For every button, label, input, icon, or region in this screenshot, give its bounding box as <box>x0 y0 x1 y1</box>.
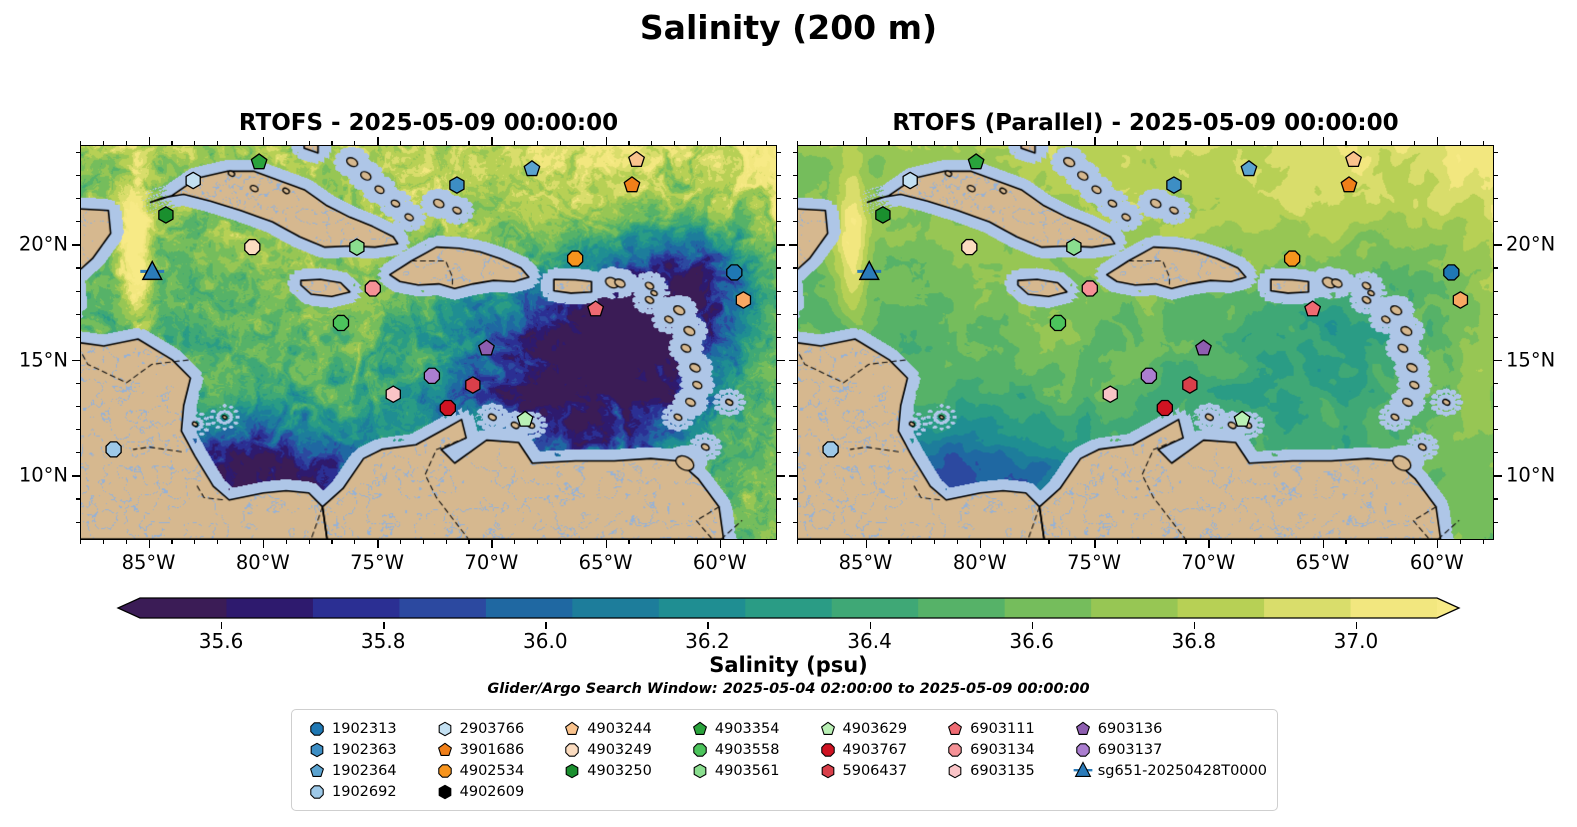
xtick-minor-top-left <box>743 141 744 145</box>
xtick-major-left <box>263 540 265 548</box>
legend-label: 5906437 <box>841 763 908 779</box>
xtick-minor-right <box>1003 540 1004 544</box>
ytick-minor-left-right <box>793 429 797 430</box>
map-marker-5906437[interactable] <box>466 377 480 393</box>
map-marker-4903250[interactable] <box>159 207 173 223</box>
legend-label: 4902609 <box>458 784 525 800</box>
map-marker-4903558[interactable] <box>1050 315 1065 330</box>
map-marker-4902609[interactable] <box>1453 292 1467 308</box>
xtick-label: 65°W <box>579 551 633 574</box>
legend-label: 4903767 <box>841 742 908 758</box>
legend-marker-octagon-icon <box>942 739 968 760</box>
map-marker-6903137[interactable] <box>1141 368 1156 383</box>
xtick-minor-top-left <box>217 141 218 145</box>
ytick-minor-right-left <box>777 383 781 384</box>
legend-label: 4903249 <box>585 742 652 758</box>
xtick-minor-top-left <box>400 141 401 145</box>
legend-marker-hexagon-icon <box>432 781 458 802</box>
xtick-minor-top-right <box>1414 141 1415 145</box>
ytick-major-left-left <box>72 244 80 246</box>
map-marker-4902609[interactable] <box>736 292 750 308</box>
xtick-minor-right <box>1391 540 1392 544</box>
legend-item-2903766[interactable]: 2903766 <box>432 718 560 739</box>
xtick-minor-right <box>1117 540 1118 544</box>
xtick-minor-top-right <box>911 141 912 145</box>
marker-overlay-rtofs <box>81 146 776 539</box>
legend-spacer <box>815 781 943 802</box>
legend-marker-pentagon-icon <box>304 760 330 781</box>
legend-marker-hexagon-icon <box>432 718 458 739</box>
legend-label: 6903111 <box>968 721 1035 737</box>
map-marker-4903561[interactable] <box>1067 239 1081 255</box>
map-marker-1902692[interactable] <box>106 442 121 457</box>
legend-label: sg651-20250428T0000 <box>1096 763 1267 779</box>
colorbar-tick <box>1356 622 1357 629</box>
ytick-minor-left-right <box>793 152 797 153</box>
xtick-minor-right <box>888 540 889 544</box>
legend-label: 4903354 <box>713 721 780 737</box>
legend-item-sg651[interactable]: sg651-20250428T0000 <box>1070 760 1267 781</box>
ytick-label-left: 15°N <box>0 348 68 371</box>
legend-item-1902313[interactable]: 1902313 <box>304 718 432 739</box>
map-marker-4903767[interactable] <box>1157 400 1172 415</box>
xtick-minor-top-left <box>651 141 652 145</box>
map-panel-rtofs-parallel[interactable] <box>797 145 1494 540</box>
xtick-major-top-left <box>377 137 379 145</box>
xtick-minor-top-left <box>537 141 538 145</box>
xtick-label: 60°W <box>693 551 747 574</box>
legend-spacer <box>942 781 1070 802</box>
ytick-minor-left-left <box>76 452 80 453</box>
ytick-minor-left-left <box>76 198 80 199</box>
legend-marker-pentagon-icon <box>559 718 585 739</box>
ytick-minor-left-left <box>76 267 80 268</box>
xtick-minor-top-right <box>1391 141 1392 145</box>
xtick-minor-left <box>103 540 104 544</box>
xtick-minor-left <box>743 540 744 544</box>
xtick-major-top-right <box>1323 137 1325 145</box>
xtick-label: 80°W <box>953 551 1007 574</box>
xtick-minor-right <box>1368 540 1369 544</box>
xtick-major-top-right <box>866 137 868 145</box>
map-marker-4902534[interactable] <box>1285 251 1300 266</box>
map-marker-sg651[interactable] <box>857 261 881 279</box>
search-window-caption: Glider/Argo Search Window: 2025-05-04 02… <box>0 681 1577 697</box>
xtick-minor-left <box>331 540 332 544</box>
legend-item-6903135[interactable]: 6903135 <box>942 760 1070 781</box>
map-marker-4903767[interactable] <box>440 400 455 415</box>
map-marker-6903136[interactable] <box>479 340 495 355</box>
xtick-label: 70°W <box>1181 551 1235 574</box>
legend-label: 4903561 <box>713 763 780 779</box>
map-marker-4903629[interactable] <box>517 411 533 426</box>
xtick-minor-top-left <box>354 141 355 145</box>
colorbar-extend-max <box>1437 598 1459 618</box>
ytick-minor-right-left <box>777 522 781 523</box>
map-marker-3901686[interactable] <box>1341 177 1357 192</box>
xtick-major-top-left <box>149 137 151 145</box>
ytick-minor-right-right <box>1494 429 1498 430</box>
ytick-minor-left-left <box>76 152 80 153</box>
legend-item-4903249[interactable]: 4903249 <box>559 739 687 760</box>
legend-marker-pentagon-icon <box>432 739 458 760</box>
legend-marker-octagon-icon <box>687 739 713 760</box>
colorbar-tick <box>1032 622 1033 629</box>
xtick-label: 65°W <box>1296 551 1350 574</box>
ytick-label-left: 20°N <box>0 233 68 256</box>
xtick-minor-top-right <box>1185 141 1186 145</box>
xtick-minor-right <box>1277 540 1278 544</box>
legend-item-4903561[interactable]: 4903561 <box>687 760 815 781</box>
panel-title-right: RTOFS (Parallel) - 2025-05-09 00:00:00 <box>797 110 1494 140</box>
map-marker-1902692[interactable] <box>823 442 838 457</box>
legend-item-5906437[interactable]: 5906437 <box>815 760 943 781</box>
xtick-minor-left <box>468 540 469 544</box>
map-marker-2903766[interactable] <box>903 172 917 188</box>
colorbar-tick <box>221 622 222 629</box>
ytick-minor-right-left <box>777 314 781 315</box>
map-marker-4903244[interactable] <box>629 152 645 167</box>
ytick-major-right-left <box>777 475 785 477</box>
xtick-minor-left <box>537 540 538 544</box>
ytick-major-right-left <box>777 360 785 362</box>
xtick-minor-right <box>843 540 844 544</box>
legend-item-3901686[interactable]: 3901686 <box>432 739 560 760</box>
ytick-minor-left-right <box>793 522 797 523</box>
ytick-minor-left-left <box>76 337 80 338</box>
legend-marker-hexagon-icon <box>942 760 968 781</box>
colorbar[interactable] <box>0 596 1577 622</box>
xtick-major-top-left <box>263 137 265 145</box>
ytick-minor-right-left <box>777 198 781 199</box>
ytick-minor-right-right <box>1494 337 1498 338</box>
ytick-label-right: 15°N <box>1506 348 1577 371</box>
xtick-minor-top-right <box>1254 141 1255 145</box>
legend-item-1902364[interactable]: 1902364 <box>304 760 432 781</box>
map-marker-5906437[interactable] <box>1183 377 1197 393</box>
xtick-major-right <box>1094 540 1096 548</box>
xtick-minor-top-left <box>80 141 81 145</box>
ytick-minor-right-left <box>777 267 781 268</box>
xtick-minor-top-left <box>628 141 629 145</box>
xtick-minor-top-right <box>1345 141 1346 145</box>
ytick-label-left: 10°N <box>0 464 68 487</box>
legend-item-6903136[interactable]: 6903136 <box>1070 718 1267 739</box>
xtick-minor-left <box>560 540 561 544</box>
xtick-major-left <box>377 540 379 548</box>
map-marker-4903558[interactable] <box>333 315 348 330</box>
legend-marker-octagon-icon <box>1070 739 1096 760</box>
legend-marker-pentagon-icon <box>687 718 713 739</box>
ytick-minor-left-right <box>793 498 797 499</box>
legend-item-4903250[interactable]: 4903250 <box>559 760 687 781</box>
map-marker-6903135[interactable] <box>386 386 400 402</box>
legend-item-6903134[interactable]: 6903134 <box>942 739 1070 760</box>
xtick-minor-left <box>514 540 515 544</box>
colorbar-band-4 <box>486 598 573 618</box>
xtick-label: 80°W <box>236 551 290 574</box>
legend-label: 1902363 <box>330 742 397 758</box>
map-marker-3901686[interactable] <box>624 177 640 192</box>
ytick-minor-left-left <box>76 291 80 292</box>
ytick-minor-right-right <box>1494 498 1498 499</box>
map-panel-rtofs[interactable] <box>80 145 777 540</box>
xtick-minor-right <box>1140 540 1141 544</box>
xtick-minor-left <box>674 540 675 544</box>
ytick-minor-left-right <box>793 452 797 453</box>
ytick-minor-right-right <box>1494 175 1498 176</box>
legend-item-4903629[interactable]: 4903629 <box>815 718 943 739</box>
legend-label: 2903766 <box>458 721 525 737</box>
xtick-minor-top-left <box>126 141 127 145</box>
xtick-minor-top-left <box>103 141 104 145</box>
map-marker-6903135[interactable] <box>1103 386 1117 402</box>
legend-label: 6903135 <box>968 763 1035 779</box>
legend-item-4903244[interactable]: 4903244 <box>559 718 687 739</box>
ytick-minor-left-left <box>76 314 80 315</box>
ytick-minor-left-right <box>793 314 797 315</box>
colorbar-tick <box>707 622 708 629</box>
ytick-minor-right-right <box>1494 267 1498 268</box>
legend-item-1902692[interactable]: 1902692 <box>304 781 432 802</box>
map-marker-4903629[interactable] <box>1234 411 1250 426</box>
xtick-minor-top-right <box>1460 141 1461 145</box>
colorbar-extend-min <box>118 598 140 618</box>
xtick-major-top-right <box>1437 137 1439 145</box>
map-marker-6903111[interactable] <box>1305 301 1321 316</box>
map-marker-4903354[interactable] <box>251 154 267 169</box>
xtick-minor-top-left <box>468 141 469 145</box>
legend-marker-octagon-icon <box>815 739 841 760</box>
map-marker-6903134[interactable] <box>1082 281 1097 296</box>
ytick-minor-right-left <box>777 337 781 338</box>
xtick-minor-top-right <box>1277 141 1278 145</box>
xtick-label: 60°W <box>1410 551 1464 574</box>
legend-marker-hexagon-icon <box>815 760 841 781</box>
xtick-minor-top-right <box>843 141 844 145</box>
colorbar-tick-label: 35.8 <box>361 629 406 653</box>
colorbar-tick-label: 36.8 <box>1172 629 1217 653</box>
colorbar-band-3 <box>399 598 486 618</box>
xtick-minor-right <box>820 540 821 544</box>
map-marker-4902534[interactable] <box>568 251 583 266</box>
xtick-major-top-left <box>491 137 493 145</box>
colorbar-band-0 <box>140 598 227 618</box>
xtick-major-top-left <box>606 137 608 145</box>
xtick-minor-left <box>240 540 241 544</box>
ytick-major-right-right <box>1494 360 1502 362</box>
ytick-label-right: 20°N <box>1506 233 1577 256</box>
xtick-minor-top-right <box>1003 141 1004 145</box>
ytick-minor-right-right <box>1494 221 1498 222</box>
ytick-minor-left-left <box>76 498 80 499</box>
legend-item-6903137[interactable]: 6903137 <box>1070 739 1267 760</box>
ytick-major-right-right <box>1494 244 1502 246</box>
map-marker-6903111[interactable] <box>588 301 604 316</box>
ytick-minor-right-right <box>1494 314 1498 315</box>
map-marker-1902363[interactable] <box>1167 177 1181 193</box>
xtick-minor-right <box>1071 540 1072 544</box>
legend-box[interactable]: 1902313290376649032444903354490362969031… <box>291 709 1278 811</box>
xtick-minor-top-left <box>514 141 515 145</box>
ytick-minor-left-right <box>793 337 797 338</box>
colorbar-tick-label: 36.2 <box>685 629 730 653</box>
map-marker-4903561[interactable] <box>350 239 364 255</box>
xtick-minor-right <box>1414 540 1415 544</box>
map-marker-4903249[interactable] <box>245 240 260 255</box>
xtick-minor-top-right <box>1117 141 1118 145</box>
legend-item-4902534[interactable]: 4902534 <box>432 760 560 781</box>
ytick-minor-right-left <box>777 291 781 292</box>
map-marker-1902364[interactable] <box>1241 161 1257 176</box>
colorbar-tick <box>383 622 384 629</box>
legend-item-1902363[interactable]: 1902363 <box>304 739 432 760</box>
xtick-minor-right <box>957 540 958 544</box>
xtick-minor-right <box>1460 540 1461 544</box>
xtick-minor-left <box>766 540 767 544</box>
xtick-minor-top-right <box>820 141 821 145</box>
xtick-minor-top-left <box>309 141 310 145</box>
xtick-minor-top-left <box>171 141 172 145</box>
xtick-minor-right <box>1254 540 1255 544</box>
xtick-minor-top-right <box>1071 141 1072 145</box>
legend-marker-pentagon-icon <box>1070 718 1096 739</box>
legend-marker-hexagon-icon <box>687 760 713 781</box>
legend-spacer <box>687 781 815 802</box>
colorbar-band-8 <box>832 598 919 618</box>
colorbar-band-6 <box>659 598 746 618</box>
xtick-minor-top-right <box>1231 141 1232 145</box>
ytick-minor-left-right <box>793 175 797 176</box>
colorbar-tick-label: 37.0 <box>1334 629 1379 653</box>
colorbar-tick <box>545 622 546 629</box>
colorbar-band-10 <box>1005 598 1092 618</box>
xtick-minor-left <box>651 540 652 544</box>
colorbar-tick <box>870 622 871 629</box>
legend-item-4903354[interactable]: 4903354 <box>687 718 815 739</box>
xtick-minor-left <box>194 540 195 544</box>
legend-label: 4903250 <box>585 763 652 779</box>
colorbar-band-5 <box>572 598 659 618</box>
xtick-minor-right <box>1483 540 1484 544</box>
legend-item-4902609[interactable]: 4902609 <box>432 781 560 802</box>
xtick-minor-left <box>80 540 81 544</box>
legend-label: 3901686 <box>458 742 525 758</box>
xtick-major-right <box>1323 540 1325 548</box>
ytick-minor-left-left <box>76 522 80 523</box>
xtick-minor-right <box>1185 540 1186 544</box>
xtick-minor-left <box>400 540 401 544</box>
legend-item-6903111[interactable]: 6903111 <box>942 718 1070 739</box>
xtick-major-top-right <box>1208 137 1210 145</box>
xtick-major-right <box>1208 540 1210 548</box>
ytick-minor-left-left <box>76 429 80 430</box>
legend-label: 1902692 <box>330 784 397 800</box>
xtick-major-right <box>1437 540 1439 548</box>
map-marker-4903244[interactable] <box>1346 152 1362 167</box>
ytick-major-left-left <box>72 475 80 477</box>
legend-item-4903767[interactable]: 4903767 <box>815 739 943 760</box>
legend-marker-hexagon-icon <box>304 739 330 760</box>
legend-spacer <box>559 781 687 802</box>
xtick-minor-left <box>446 540 447 544</box>
map-marker-4903250[interactable] <box>876 207 890 223</box>
ytick-minor-left-right <box>793 383 797 384</box>
xtick-label: 75°W <box>350 551 404 574</box>
marker-overlay-rtofs-parallel <box>798 146 1493 539</box>
legend-marker-glider-icon <box>1070 760 1096 781</box>
legend-label: 6903137 <box>1096 742 1163 758</box>
map-marker-4903249[interactable] <box>962 240 977 255</box>
xtick-minor-top-left <box>560 141 561 145</box>
xtick-major-right <box>866 540 868 548</box>
legend-label: 1902364 <box>330 763 397 779</box>
ytick-minor-left-right <box>793 221 797 222</box>
ytick-minor-left-right <box>793 267 797 268</box>
ytick-minor-right-left <box>777 406 781 407</box>
legend-marker-pentagon-icon <box>815 718 841 739</box>
legend-item-4903558[interactable]: 4903558 <box>687 739 815 760</box>
map-marker-1902313[interactable] <box>1444 265 1459 280</box>
xtick-major-left <box>149 540 151 548</box>
xtick-minor-left <box>217 540 218 544</box>
colorbar-tick <box>1194 622 1195 629</box>
legend-label: 4902534 <box>458 763 525 779</box>
xtick-minor-right <box>1300 540 1301 544</box>
ytick-minor-left-left <box>76 406 80 407</box>
xtick-major-left <box>720 540 722 548</box>
colorbar-title: Salinity (psu) <box>0 653 1577 677</box>
xtick-minor-left <box>628 540 629 544</box>
map-marker-1902313[interactable] <box>727 265 742 280</box>
ytick-minor-right-right <box>1494 406 1498 407</box>
map-marker-4903354[interactable] <box>968 154 984 169</box>
xtick-label: 85°W <box>839 551 893 574</box>
ytick-minor-right-left <box>777 152 781 153</box>
ytick-minor-right-right <box>1494 152 1498 153</box>
xtick-minor-top-left <box>766 141 767 145</box>
map-marker-6903134[interactable] <box>365 281 380 296</box>
xtick-minor-top-left <box>331 141 332 145</box>
ytick-minor-right-right <box>1494 291 1498 292</box>
xtick-minor-right <box>1048 540 1049 544</box>
map-marker-6903136[interactable] <box>1196 340 1212 355</box>
xtick-minor-top-right <box>1026 141 1027 145</box>
legend-marker-octagon-icon <box>432 760 458 781</box>
legend-label: 1902313 <box>330 721 397 737</box>
map-marker-sg651[interactable] <box>140 261 164 279</box>
ytick-minor-right-right <box>1494 522 1498 523</box>
ytick-major-left-right <box>789 360 797 362</box>
xtick-minor-top-left <box>697 141 698 145</box>
colorbar-band-14 <box>1351 598 1438 618</box>
legend-marker-hexagon-icon <box>559 760 585 781</box>
legend-marker-octagon-icon <box>304 781 330 802</box>
map-marker-1902364[interactable] <box>524 161 540 176</box>
ytick-minor-right-left <box>777 429 781 430</box>
map-marker-1902363[interactable] <box>450 177 464 193</box>
xtick-minor-left <box>583 540 584 544</box>
ytick-minor-right-right <box>1494 383 1498 384</box>
map-marker-2903766[interactable] <box>186 172 200 188</box>
ytick-minor-right-right <box>1494 452 1498 453</box>
xtick-major-top-left <box>720 137 722 145</box>
xtick-minor-top-right <box>797 141 798 145</box>
colorbar-band-9 <box>918 598 1005 618</box>
xtick-minor-right <box>934 540 935 544</box>
colorbar-tick-label: 36.0 <box>523 629 568 653</box>
map-marker-6903137[interactable] <box>424 368 439 383</box>
